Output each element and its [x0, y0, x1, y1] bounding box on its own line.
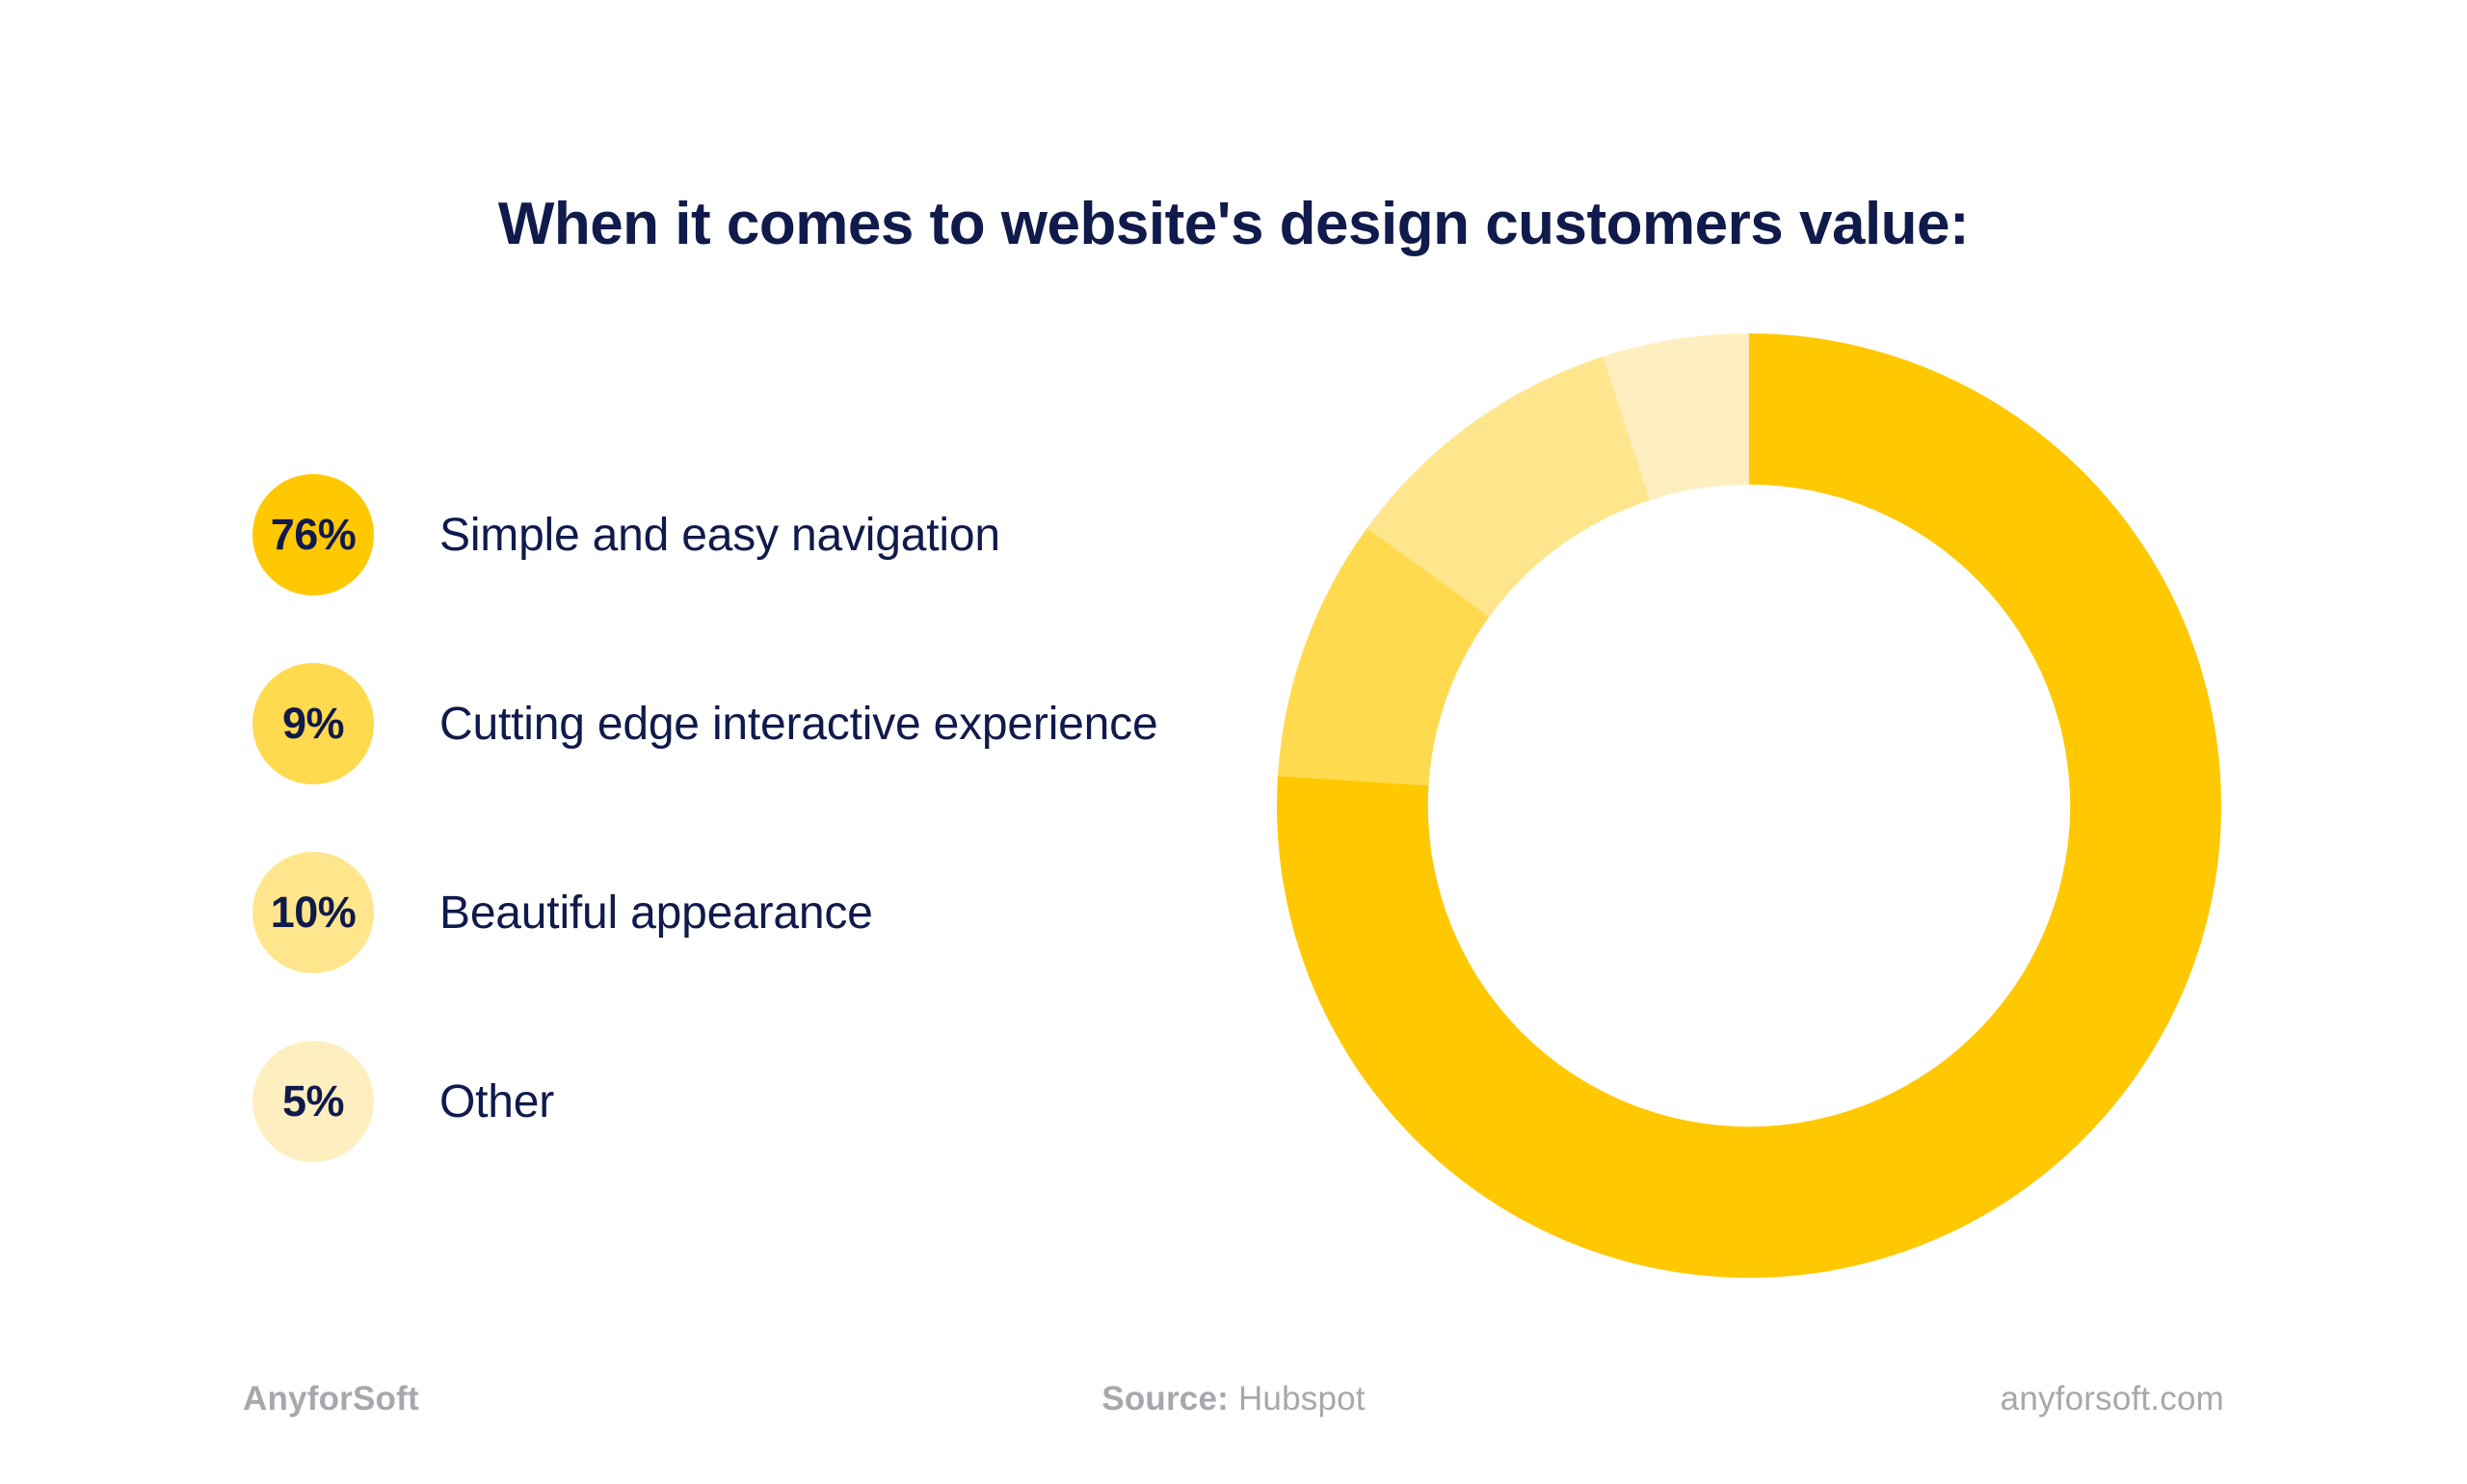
footer: AnyforSoft Source: Hubspot anyforsoft.co…: [0, 1380, 2467, 1438]
footer-source-value: Hubspot: [1238, 1380, 1366, 1418]
legend-item-label: Cutting edge interactive experience: [439, 663, 1157, 751]
page-title: When it comes to website's design custom…: [0, 190, 2467, 258]
legend-item-label: Beautiful appearance: [439, 852, 873, 940]
legend-percent-badge: 10%: [252, 852, 374, 973]
donut-chart-svg: [1277, 333, 2221, 1278]
donut-chart: [1277, 333, 2221, 1278]
footer-source-spacer: [1229, 1380, 1238, 1418]
donut-slice-group: [1277, 333, 2221, 1278]
legend-percent-badge: 5%: [252, 1041, 374, 1162]
legend-item[interactable]: 10%Beautiful appearance: [252, 852, 1216, 1041]
legend-item-label: Other: [439, 1041, 554, 1128]
legend-item[interactable]: 9%Cutting edge interactive experience: [252, 663, 1216, 852]
footer-source-key: Source:: [1101, 1380, 1229, 1418]
footer-website: anyforsoft.com: [2001, 1380, 2224, 1418]
legend-item[interactable]: 5%Other: [252, 1041, 1216, 1230]
infographic-page: When it comes to website's design custom…: [0, 0, 2467, 1484]
chart-legend: 76%Simple and easy navigation9%Cutting e…: [252, 474, 1216, 1230]
legend-percent-badge: 9%: [252, 663, 374, 784]
legend-percent-badge: 76%: [252, 474, 374, 596]
legend-item-label: Simple and easy navigation: [439, 474, 1000, 562]
legend-item[interactable]: 76%Simple and easy navigation: [252, 474, 1216, 663]
